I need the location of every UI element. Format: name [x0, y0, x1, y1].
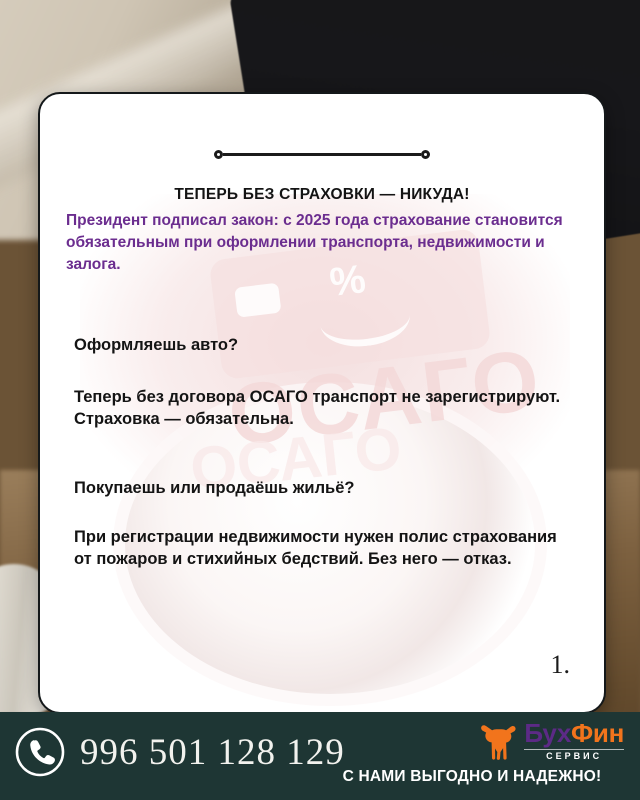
- page-number: 1.: [551, 650, 571, 680]
- phone-in-circle-icon: [14, 726, 66, 778]
- lede-paragraph: Президент подписал закон: с 2025 года ст…: [66, 210, 582, 276]
- brand-name-part1: Бух: [524, 718, 571, 748]
- content-card: % ОСАГО ОСАГО ТЕПЕРЬ БЕЗ СТРАХОВКИ — НИК…: [38, 92, 606, 714]
- contact-phone[interactable]: 996 501 128 129: [14, 726, 345, 778]
- page-title: ТЕПЕРЬ БЕЗ СТРАХОВКИ — НИКУДА!: [40, 186, 604, 204]
- decorative-divider: [40, 150, 604, 159]
- bull-icon: [480, 721, 518, 761]
- brand-name-part2: Фин: [571, 718, 624, 748]
- brand-subtitle: СЕРВИС: [524, 749, 624, 761]
- divider-dot-left: [214, 150, 223, 159]
- divider-dot-right: [421, 150, 430, 159]
- housing-answer-text: При регистрации недвижимости нужен полис…: [74, 526, 574, 570]
- brand-name-text: БухФин: [524, 720, 624, 746]
- auto-question-text: Оформляешь авто?: [74, 334, 574, 356]
- phone-number-text: 996 501 128 129: [80, 731, 345, 774]
- brand-tagline: С НАМИ ВЫГОДНО И НАДЕЖНО!: [324, 768, 624, 786]
- footer-bar: 996 501 128 129 БухФин СЕРВИС С НАМИ ВЫГ…: [0, 712, 640, 800]
- promo-slide-page: % ОСАГО ОСАГО ТЕПЕРЬ БЕЗ СТРАХОВКИ — НИК…: [0, 0, 640, 800]
- brand-block[interactable]: БухФин СЕРВИС С НАМИ ВЫГОДНО И НАДЕЖНО!: [324, 720, 624, 786]
- auto-answer-text: Теперь без договора ОСАГО транспорт не з…: [74, 386, 574, 430]
- brand-wordmark: БухФин СЕРВИС: [524, 720, 624, 761]
- brand-logo-row: БухФин СЕРВИС: [324, 720, 624, 761]
- divider-bar: [223, 153, 421, 156]
- housing-question-text: Покупаешь или продаёшь жильё?: [74, 477, 574, 499]
